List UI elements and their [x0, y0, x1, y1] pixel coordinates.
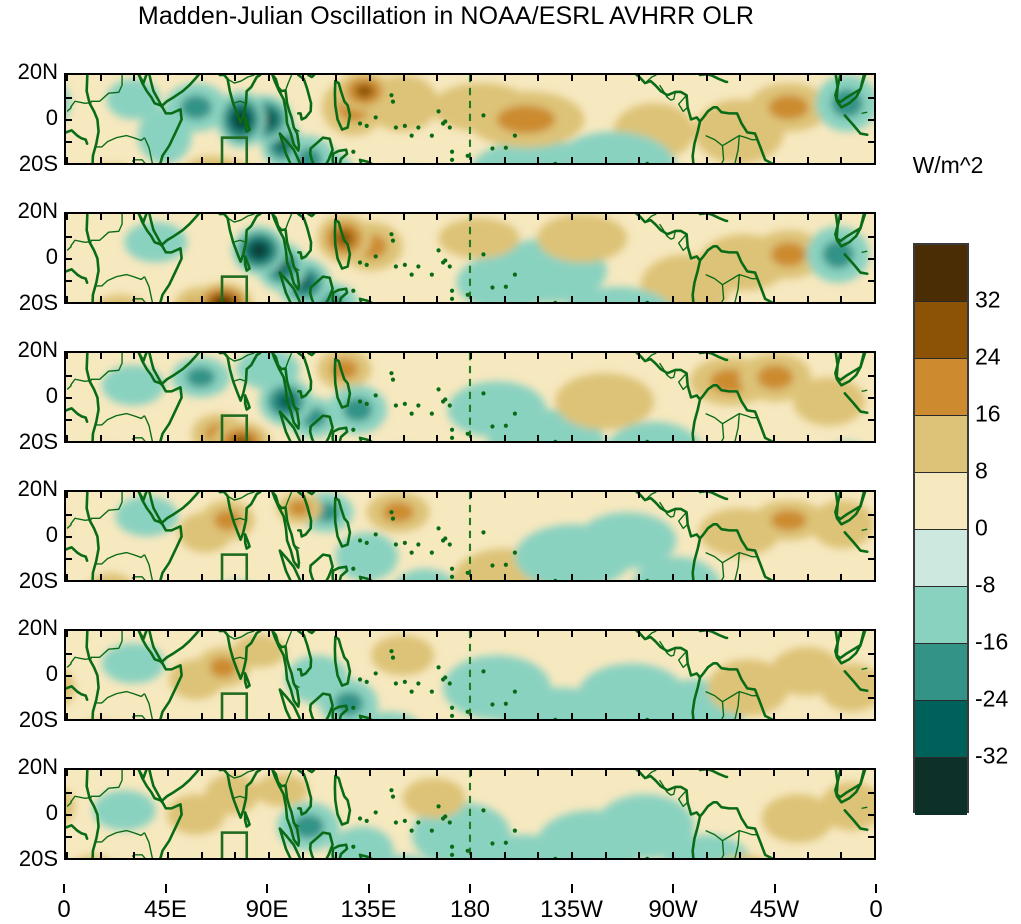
- x-axis: 045E90E135E180135W90W45W0: [64, 884, 876, 922]
- x-axis-tick: [875, 884, 877, 893]
- map-plot-area[interactable]: [64, 212, 876, 304]
- x-axis-tick: [368, 884, 370, 893]
- x-axis-tick: [165, 884, 167, 893]
- colorbar-band-4: [915, 473, 967, 530]
- y-axis-tick-label: 20S: [0, 568, 58, 594]
- colorbar-tick-label: 0: [975, 515, 988, 542]
- y-axis-tick-label: 20S: [0, 429, 58, 455]
- y-axis-tick-label: 0: [0, 522, 58, 548]
- colorbar-band-7: [915, 644, 967, 701]
- y-axis-tick-label: 20N: [0, 59, 58, 85]
- map-panel-3: 20N020S: [64, 351, 876, 443]
- x-axis-tick-label: 0: [57, 896, 70, 924]
- map-panel-4: 20N020S: [64, 490, 876, 582]
- colorbar-tick-label: -16: [975, 629, 1008, 656]
- map-plot-area[interactable]: [64, 490, 876, 582]
- map-panel-2: 20N020S: [64, 212, 876, 304]
- x-axis-tick: [469, 884, 471, 893]
- colorbar-tick-label: -8: [975, 572, 995, 599]
- figure-title: Madden-Julian Oscillation in NOAA/ESRL A…: [0, 2, 892, 31]
- colorbar-band-3: [915, 416, 967, 473]
- y-axis-tick-label: 0: [0, 383, 58, 409]
- x-axis-tick-label: 180: [450, 896, 490, 924]
- colorbar-tick-label: 16: [975, 401, 1001, 428]
- colorbar-tick-label: -24: [975, 686, 1008, 713]
- map-plot-area[interactable]: [64, 351, 876, 443]
- x-axis-tick-label: 45E: [144, 896, 187, 924]
- colorbar-band-6: [915, 587, 967, 644]
- colorbar-band-9: [915, 758, 967, 815]
- x-axis-tick-label: 45W: [750, 896, 799, 924]
- map-plot-area[interactable]: [64, 73, 876, 165]
- y-axis-tick-label: 20N: [0, 754, 58, 780]
- x-axis-tick-label: 90E: [246, 896, 289, 924]
- colorbar-tick-label: 8: [975, 458, 988, 485]
- colorbar-band-5: [915, 530, 967, 587]
- colorbar[interactable]: [913, 243, 969, 813]
- map-panel-1: 20N020S: [64, 73, 876, 165]
- y-axis-tick-label: 20N: [0, 337, 58, 363]
- x-axis-tick: [774, 884, 776, 893]
- x-axis-tick: [266, 884, 268, 893]
- y-axis-tick-label: 0: [0, 105, 58, 131]
- x-axis-tick-label: 135E: [340, 896, 396, 924]
- y-axis-tick-label: 20S: [0, 707, 58, 733]
- y-axis-tick-label: 20S: [0, 151, 58, 177]
- map-plot-area[interactable]: [64, 768, 876, 860]
- x-axis-tick-label: 0: [869, 896, 882, 924]
- map-panel-6: 20N020S: [64, 768, 876, 860]
- figure-root: Madden-Julian Oscillation in NOAA/ESRL A…: [0, 0, 1021, 922]
- y-axis-tick-label: 20N: [0, 615, 58, 641]
- colorbar-band-2: [915, 359, 967, 416]
- colorbar-tick-label: 24: [975, 344, 1001, 371]
- x-axis-tick: [571, 884, 573, 893]
- x-axis-tick: [63, 884, 65, 893]
- y-axis-tick-label: 0: [0, 244, 58, 270]
- colorbar-band-8: [915, 701, 967, 758]
- y-axis-tick-label: 20N: [0, 476, 58, 502]
- colorbar-band-1: [915, 302, 967, 359]
- colorbar-band-0: [915, 245, 967, 302]
- map-panel-5: 20N020S: [64, 629, 876, 721]
- x-axis-tick-label: 90W: [648, 896, 697, 924]
- colorbar-units-label: W/m^2: [888, 152, 1008, 179]
- y-axis-tick-label: 20S: [0, 290, 58, 316]
- x-axis-tick-label: 135W: [540, 896, 603, 924]
- colorbar-tick-label: -32: [975, 743, 1008, 770]
- y-axis-tick-label: 0: [0, 800, 58, 826]
- map-plot-area[interactable]: [64, 629, 876, 721]
- y-axis-tick-label: 20N: [0, 198, 58, 224]
- x-axis-tick: [672, 884, 674, 893]
- y-axis-tick-label: 20S: [0, 846, 58, 872]
- y-axis-tick-label: 0: [0, 661, 58, 687]
- colorbar-tick-label: 32: [975, 287, 1001, 314]
